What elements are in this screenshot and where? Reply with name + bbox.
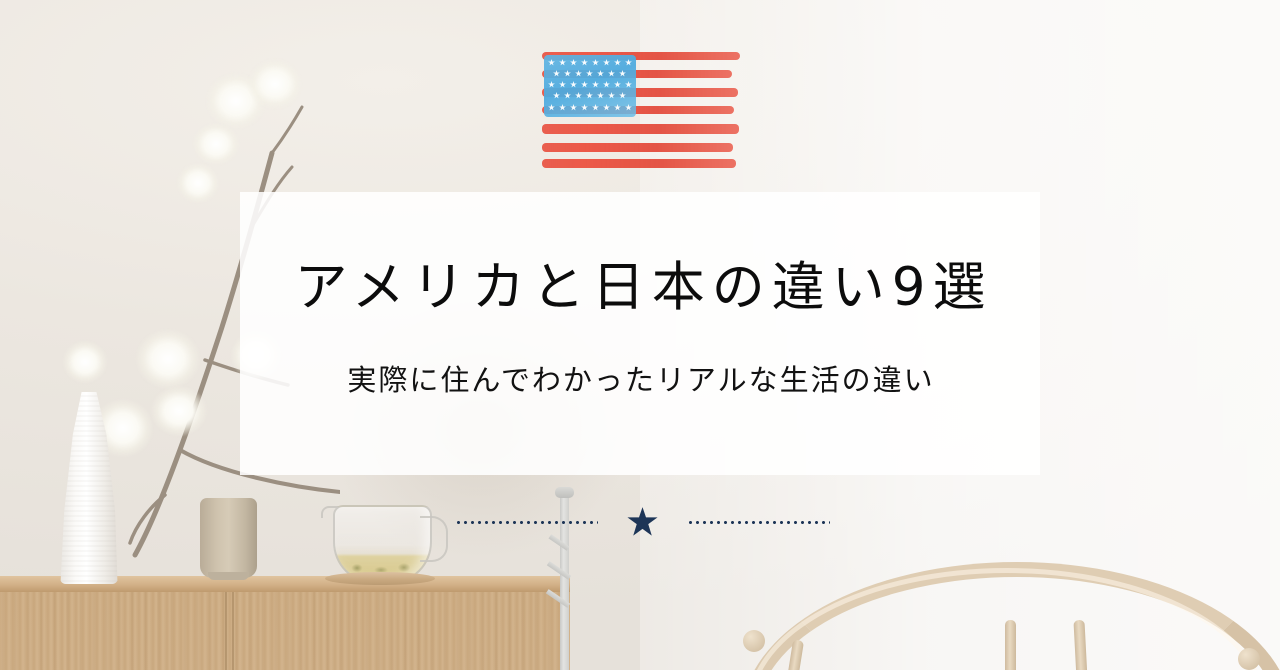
title-card: アメリカと日本の違い9選 実際に住んでわかったリアルな生活の違い [240,192,1040,475]
blossom-cluster-3 [192,122,240,166]
shelf-bracket-cap [555,487,574,498]
chair-arm-knob-left [743,630,765,652]
teapot-handle [420,516,448,562]
flag-stars [544,55,636,117]
page-subtitle: 実際に住んでわかったリアルな生活の違い [240,362,1040,400]
ceramic-cup [200,498,257,578]
blossom-cluster-2 [247,58,303,110]
teapot-wooden-saucer [325,572,435,585]
dotted-line-right [687,521,830,524]
blossom-cluster-9 [62,340,108,384]
sideboard-seam-1 [225,592,227,670]
sideboard-seam-2 [232,592,234,670]
united-states-flag-icon [542,48,742,166]
chair-spindle-center-left [1005,620,1016,670]
decorative-divider [455,506,830,538]
sideboard-wood-grain [0,592,570,670]
star-icon [627,507,659,538]
blossom-cluster-4 [176,162,220,204]
blossom-cluster-7 [150,385,208,437]
page-title: アメリカと日本の違い9選 [240,258,1040,317]
thumbnail-canvas: アメリカと日本の違い9選 実際に住んでわかったリアルな生活の違い [0,0,1280,670]
ceramic-cup-foot [208,572,249,580]
dotted-line-left [455,521,598,524]
chair-arm-knob-right [1238,648,1260,670]
blossom-cluster-5 [135,328,201,390]
